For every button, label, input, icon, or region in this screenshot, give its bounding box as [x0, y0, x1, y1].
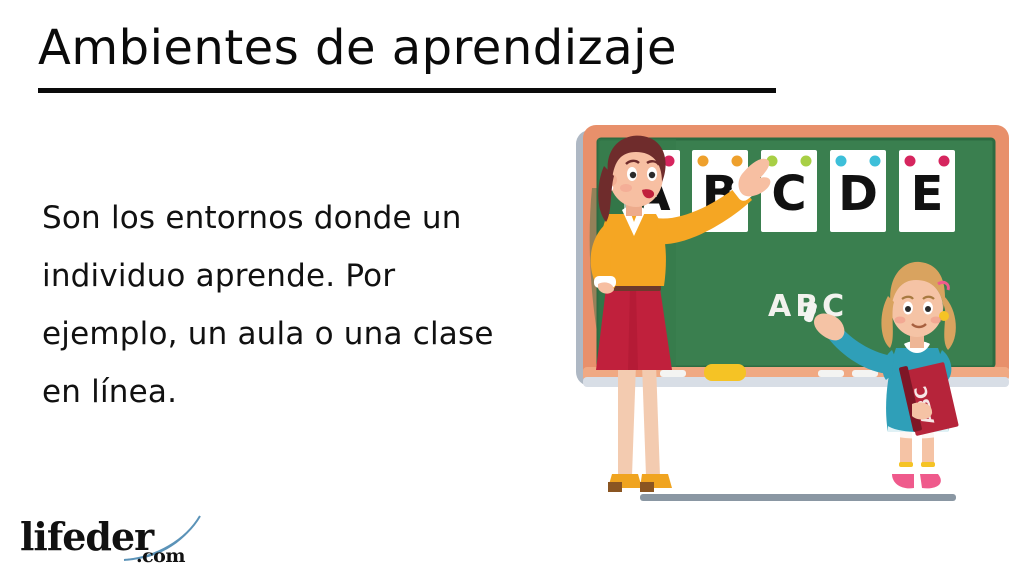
classroom-illustration-svg: A B C D — [556, 118, 1024, 518]
card-pin-dot — [801, 156, 812, 167]
teacher-leg — [618, 364, 636, 476]
student-shoe — [920, 474, 941, 488]
card-pin-dot — [698, 156, 709, 167]
body-paragraph: Son los entornos donde un individuo apre… — [42, 189, 522, 421]
title-block: Ambientes de aprendizaje — [36, 22, 816, 80]
student-eye — [905, 306, 911, 312]
lifeder-logo[interactable]: lifeder .com — [20, 512, 210, 570]
card-pin-dot — [732, 156, 743, 167]
letter-card-c: C — [761, 150, 817, 232]
card-pin-dot — [836, 156, 847, 167]
card-pin-dot — [939, 156, 950, 167]
card-letter: E — [911, 166, 944, 222]
teacher-eye — [630, 172, 636, 178]
card-pin-dot — [905, 156, 916, 167]
letter-card-e: E — [899, 150, 955, 232]
card-letter: C — [771, 166, 806, 222]
classroom-illustration: A B C D — [556, 118, 1024, 518]
chalk-stick — [818, 370, 844, 377]
slide-canvas: Ambientes de aprendizaje Son los entorno… — [0, 0, 1024, 576]
chalk-stick — [660, 370, 686, 377]
card-letter: D — [838, 166, 878, 222]
title-underline — [38, 88, 776, 93]
card-pin-dot — [870, 156, 881, 167]
chalk-stick — [852, 370, 878, 377]
floor-line — [640, 494, 956, 501]
student-shoe — [892, 474, 914, 488]
teacher-eye — [649, 172, 655, 178]
student-eye — [925, 306, 931, 312]
letter-card-d: D — [830, 150, 886, 232]
eraser-icon — [704, 364, 746, 381]
logo-tld: .com — [136, 545, 185, 567]
page-title: Ambientes de aprendizaje — [36, 22, 679, 80]
